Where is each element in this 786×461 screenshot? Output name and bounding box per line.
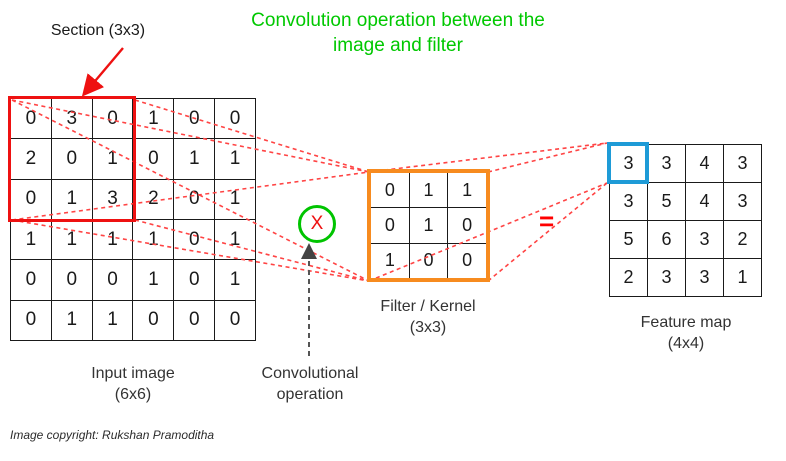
input-image-cell-3-0: 1: [11, 220, 52, 260]
input-image-cell-4-3: 1: [133, 260, 174, 300]
feature-map-cell-2-1: 6: [648, 221, 686, 259]
filter-cell-0-0: 0: [371, 173, 410, 208]
input-image-cell-0-4: 0: [174, 99, 215, 139]
input-image-cell-1-2: 1: [93, 139, 134, 179]
feature-map-cell-3-3: 1: [724, 259, 762, 297]
diagram-canvas: Convolution operation between the image …: [0, 0, 786, 461]
input-image-cell-2-3: 2: [133, 180, 174, 220]
copyright-note: Image copyright: Rukshan Pramoditha: [10, 428, 214, 442]
feature-map-cell-2-3: 2: [724, 221, 762, 259]
equals-operator-icon: =: [539, 208, 554, 234]
feature-map-cell-3-2: 3: [686, 259, 724, 297]
input-image-cell-3-2: 1: [93, 220, 134, 260]
input-image-cell-1-5: 1: [215, 139, 256, 179]
feature-map-cell-0-3: 3: [724, 145, 762, 183]
input-image-label-line1: Input image: [53, 363, 213, 384]
input-image-cell-2-4: 0: [174, 180, 215, 220]
filter-cell-2-2: 0: [448, 244, 487, 279]
input-image-cell-0-3: 1: [133, 99, 174, 139]
feature-map-label: Feature map (4x4): [606, 312, 766, 354]
filter-cell-2-0: 1: [371, 244, 410, 279]
multiply-operator-icon: X: [298, 205, 336, 243]
feature-map-cell-1-3: 3: [724, 183, 762, 221]
feature-map-cell-1-0: 3: [610, 183, 648, 221]
input-image-cell-5-2: 1: [93, 301, 134, 341]
input-image-cell-4-5: 1: [215, 260, 256, 300]
input-image-cell-2-0: 0: [11, 180, 52, 220]
convolutional-operation-label: Convolutional operation: [230, 363, 390, 405]
input-image-cell-1-3: 0: [133, 139, 174, 179]
input-image-cell-5-1: 1: [52, 301, 93, 341]
input-image-cell-3-1: 1: [52, 220, 93, 260]
filter-cell-1-1: 1: [410, 208, 449, 243]
input-image-cell-0-1: 3: [52, 99, 93, 139]
input-image-cell-0-2: 0: [93, 99, 134, 139]
feature-map-cell-1-1: 5: [648, 183, 686, 221]
input-image-cell-4-0: 0: [11, 260, 52, 300]
filter-cell-2-1: 0: [410, 244, 449, 279]
filter-kernel-grid: 011010100: [370, 172, 487, 279]
input-image-cell-4-2: 0: [93, 260, 134, 300]
feature-map-cell-2-2: 3: [686, 221, 724, 259]
input-image-cell-5-3: 0: [133, 301, 174, 341]
input-image-cell-0-5: 0: [215, 99, 256, 139]
input-image-cell-5-5: 0: [215, 301, 256, 341]
filter-label-line2: (3x3): [348, 317, 508, 338]
input-image-cell-4-4: 0: [174, 260, 215, 300]
input-image-grid: 030100201011013201111101000101011000: [10, 98, 256, 341]
feature-map-cell-2-0: 5: [610, 221, 648, 259]
filter-cell-1-0: 0: [371, 208, 410, 243]
filter-cell-1-2: 0: [448, 208, 487, 243]
conv-label-line2: operation: [230, 384, 390, 405]
feature-map-cell-0-1: 3: [648, 145, 686, 183]
section-pointer-arrow: [85, 48, 123, 93]
input-image-label: Input image (6x6): [53, 363, 213, 405]
input-image-cell-0-0: 0: [11, 99, 52, 139]
page-title: Convolution operation between the image …: [233, 8, 563, 58]
input-image-cell-1-4: 1: [174, 139, 215, 179]
input-image-cell-5-0: 0: [11, 301, 52, 341]
input-image-cell-1-1: 0: [52, 139, 93, 179]
input-image-cell-2-2: 3: [93, 180, 134, 220]
feature-map-cell-1-2: 4: [686, 183, 724, 221]
feature-map-label-line2: (4x4): [606, 333, 766, 354]
input-image-cell-5-4: 0: [174, 301, 215, 341]
section-label: Section (3x3): [18, 20, 178, 41]
input-image-cell-3-5: 1: [215, 220, 256, 260]
feature-map-grid: 3343354356322331: [609, 144, 762, 297]
feature-map-cell-0-2: 4: [686, 145, 724, 183]
input-image-cell-3-3: 1: [133, 220, 174, 260]
input-image-label-line2: (6x6): [53, 384, 213, 405]
feature-map-cell-3-1: 3: [648, 259, 686, 297]
conv-label-line1: Convolutional: [230, 363, 390, 384]
filter-kernel-label: Filter / Kernel (3x3): [348, 296, 508, 338]
input-image-cell-3-4: 0: [174, 220, 215, 260]
filter-cell-0-1: 1: [410, 173, 449, 208]
input-image-cell-4-1: 0: [52, 260, 93, 300]
filter-label-line1: Filter / Kernel: [348, 296, 508, 317]
feature-map-cell-0-0: 3: [610, 145, 648, 183]
feature-map-label-line1: Feature map: [606, 312, 766, 333]
feature-map-cell-3-0: 2: [610, 259, 648, 297]
filter-cell-0-2: 1: [448, 173, 487, 208]
input-image-cell-2-5: 1: [215, 180, 256, 220]
input-image-cell-2-1: 1: [52, 180, 93, 220]
input-image-cell-1-0: 2: [11, 139, 52, 179]
